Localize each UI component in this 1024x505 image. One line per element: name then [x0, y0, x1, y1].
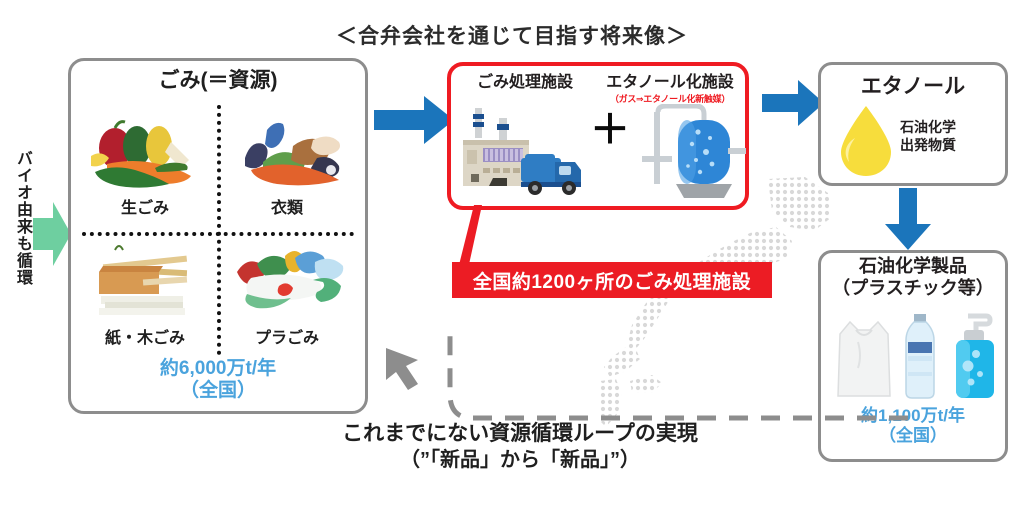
green-right-arrow-icon [33, 196, 71, 272]
ethanol-box-subtitle: 石油化学 出発物質 [900, 118, 1004, 154]
page-title: ＜合弁会社を通じて目指す将来像＞ [0, 20, 1024, 50]
product-title-line1: 石油化学製品 [818, 256, 1008, 278]
ethanol-box-title: エタノール [818, 70, 1008, 100]
waste-quadrant-paper-wood: 紙・木ごみ [80, 240, 210, 348]
blue-right-arrow-icon [374, 96, 454, 144]
waste-quadrant-paper-wood-label: 紙・木ごみ [80, 324, 210, 348]
waste-amount: 約6,000万t/年 （全国） [68, 358, 368, 402]
paper-wood-waste-icon [80, 240, 210, 322]
waste-box-divider-vertical [217, 105, 221, 355]
callout-label: 全国約1200ヶ所のごみ処理施設 [473, 267, 751, 294]
ethanol-plant-title: エタノール化施設 [590, 68, 750, 92]
waste-amount-scope: （全国） [68, 380, 368, 402]
waste-quadrant-plastic: プラごみ [222, 240, 352, 348]
bottom-caption-line2: （”「新品」から「新品」”） [240, 447, 800, 473]
ethanol-subtitle-line1: 石油化学 [900, 118, 1004, 136]
ethanol-tank-icon [640, 104, 750, 202]
pump-bottle-icon [956, 316, 994, 398]
waste-box-divider-horizontal [82, 232, 354, 236]
product-box-title: 石油化学製品 （プラスチック等） [818, 256, 1008, 299]
clothing-waste-icon [222, 110, 352, 192]
plastic-waste-icon [222, 240, 352, 322]
waste-quadrant-food: 生ごみ [80, 110, 210, 218]
waste-quadrant-plastic-label: プラごみ [222, 324, 352, 348]
yellow-droplet-icon [835, 104, 897, 178]
ethanol-subtitle-line2: 出発物質 [900, 136, 1004, 154]
waste-quadrant-clothing: 衣類 [222, 110, 352, 218]
bottom-caption: これまでにない資源循環ループの実現 （”「新品」から「新品」”） [240, 420, 800, 473]
food-waste-icon [80, 110, 210, 192]
callout-banner: 全国約1200ヶ所のごみ処理施設 [452, 262, 772, 298]
waste-plant-truck-icon [455, 104, 585, 200]
product-title-line2: （プラスチック等） [818, 278, 1008, 300]
blue-right-arrow-icon [762, 80, 824, 126]
plus-symbol: ＋ [588, 110, 632, 150]
blue-down-arrow-icon [885, 188, 931, 250]
bio-loop-label: バイオ由来も循環 [8, 150, 34, 286]
waste-quadrant-food-label: 生ごみ [80, 194, 210, 218]
waste-amount-value: 約6,000万t/年 [68, 358, 368, 380]
bottom-caption-line1: これまでにない資源循環ループの実現 [240, 420, 800, 447]
waste-quadrant-clothing-label: 衣類 [222, 194, 352, 218]
waste-plant-title: ごみ処理施設 [460, 68, 590, 92]
waste-box-title: ごみ(＝資源) [68, 64, 368, 94]
